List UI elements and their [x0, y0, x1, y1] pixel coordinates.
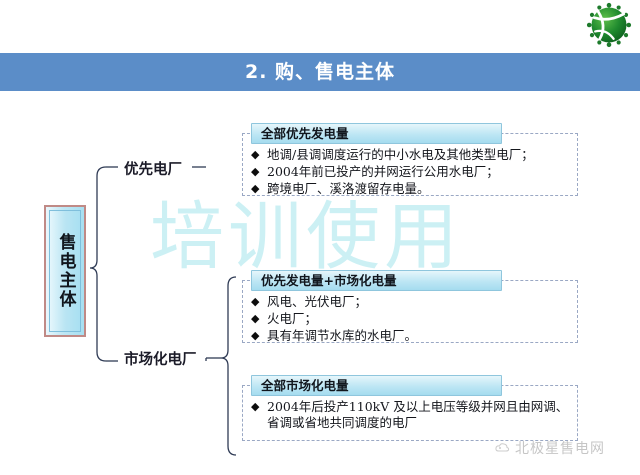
diamond-bullet-icon: ◆	[251, 164, 267, 180]
list-item: ◆ 地调/县调调度运行的中小水电及其他类型电厂；	[251, 147, 571, 163]
list-item-text: 火电厂；	[267, 311, 571, 327]
content-box-header: 优先发电量+市场化电量	[251, 270, 502, 291]
branch-label-market: 市场化电厂	[124, 348, 197, 369]
cloud-logo-icon	[494, 440, 510, 456]
list-item-text: 2004年后投产110kV 及以上电压等级并网且由网调、省调或省地共同调度的电厂	[267, 399, 571, 431]
diamond-bullet-icon: ◆	[251, 147, 267, 163]
slide-canvas: 2. 购、售电主体 培训使用 售电主体 优先电厂 市场化电厂 全部优先发电量 ◆…	[0, 0, 640, 475]
footer-watermark: 北极星售电网	[494, 438, 605, 458]
diamond-bullet-icon: ◆	[251, 294, 267, 310]
branch-label-priority: 优先电厂	[124, 158, 182, 179]
list-item-text: 地调/县调调度运行的中小水电及其他类型电厂；	[267, 147, 571, 163]
content-box-header: 全部优先发电量	[251, 123, 502, 144]
list-item-text: 跨境电厂、溪洛渡留存电量。	[267, 181, 571, 197]
diamond-bullet-icon: ◆	[251, 311, 267, 327]
content-box-market-generation: 全部市场化电量 ◆ 2004年后投产110kV 及以上电压等级并网且由网调、省调…	[242, 385, 578, 441]
content-box-mixed-generation: 优先发电量+市场化电量 ◆ 风电、光伏电厂； ◆ 火电厂； ◆ 具有年调节水库的…	[242, 280, 578, 343]
footer-watermark-text: 北极星售电网	[515, 438, 605, 458]
list-item-text: 风电、光伏电厂；	[267, 294, 571, 310]
bullet-list: ◆ 地调/县调调度运行的中小水电及其他类型电厂； ◆ 2004年前已投产的并网运…	[251, 147, 571, 198]
list-item: ◆ 火电厂；	[251, 311, 571, 327]
list-item: ◆ 2004年后投产110kV 及以上电压等级并网且由网调、省调或省地共同调度的…	[251, 399, 571, 431]
diamond-bullet-icon: ◆	[251, 399, 267, 415]
content-box-header: 全部市场化电量	[251, 375, 502, 396]
list-item: ◆ 风电、光伏电厂；	[251, 294, 571, 310]
content-box-priority-generation: 全部优先发电量 ◆ 地调/县调调度运行的中小水电及其他类型电厂； ◆ 2004年…	[242, 133, 578, 196]
list-item: ◆ 2004年前已投产的并网运行公用水电厂；	[251, 164, 571, 180]
list-item: ◆ 具有年调节水库的水电厂。	[251, 328, 571, 344]
root-node-box: 售电主体	[44, 205, 86, 337]
root-node-label: 售电主体	[57, 233, 74, 309]
diamond-bullet-icon: ◆	[251, 328, 267, 344]
list-item-text: 具有年调节水库的水电厂。	[267, 328, 571, 344]
bullet-list: ◆ 2004年后投产110kV 及以上电压等级并网且由网调、省调或省地共同调度的…	[251, 399, 571, 432]
list-item: ◆ 跨境电厂、溪洛渡留存电量。	[251, 181, 571, 197]
bullet-list: ◆ 风电、光伏电厂； ◆ 火电厂； ◆ 具有年调节水库的水电厂。	[251, 294, 571, 345]
root-node-inner: 售电主体	[49, 210, 81, 332]
list-item-text: 2004年前已投产的并网运行公用水电厂；	[267, 164, 571, 180]
diamond-bullet-icon: ◆	[251, 181, 267, 197]
